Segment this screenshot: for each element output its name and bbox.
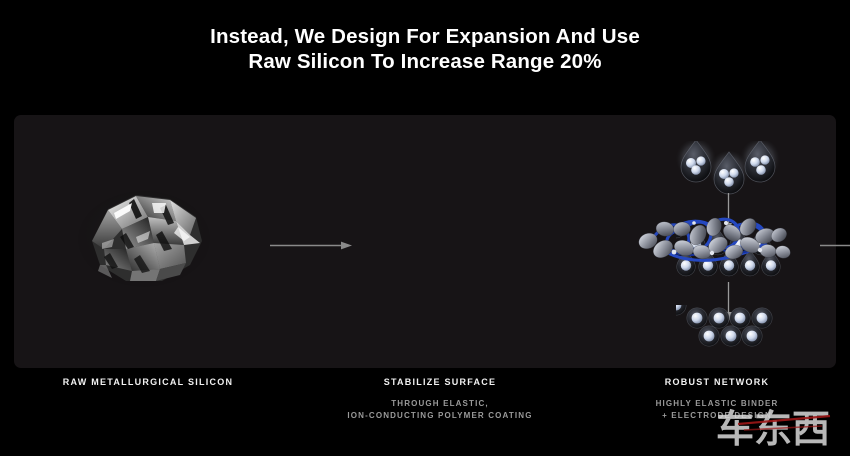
caption-robust-network-title: ROBUST NETWORK — [592, 376, 842, 388]
slide-root: Instead, We Design For Expansion And Use… — [0, 0, 850, 456]
caption-stabilize-surface-sub-2: ION-CONDUCTING POLYMER COATING — [302, 410, 578, 422]
caption-robust-network: ROBUST NETWORK HIGHLY ELASTIC BINDER + E… — [592, 376, 842, 421]
stage-raw-silicon — [14, 115, 269, 368]
stage-robust-network — [594, 115, 836, 368]
caption-robust-network-sub-1: HIGHLY ELASTIC BINDER — [592, 398, 842, 410]
stage-stabilize-surface — [304, 115, 559, 368]
caption-raw-silicon-title: RAW METALLURGICAL SILICON — [30, 376, 266, 388]
caption-raw-silicon: RAW METALLURGICAL SILICON — [30, 376, 266, 388]
page-title: Instead, We Design For Expansion And Use… — [0, 24, 850, 74]
caption-stabilize-surface-sub-1: THROUGH ELASTIC, — [302, 398, 578, 410]
caption-stabilize-surface: STABILIZE SURFACE THROUGH ELASTIC, ION-C… — [302, 376, 578, 421]
caption-robust-network-sub-2: + ELECTRODE DESIGN — [592, 410, 842, 422]
title-line-1: Instead, We Design For Expansion And Use — [0, 24, 850, 49]
title-line-2: Raw Silicon To Increase Range 20% — [0, 49, 850, 74]
silicon-rock-icon — [74, 183, 214, 293]
caption-stabilize-surface-title: STABILIZE SURFACE — [302, 376, 578, 388]
particle-network-icon — [634, 205, 799, 275]
diagram-panel — [14, 115, 836, 368]
